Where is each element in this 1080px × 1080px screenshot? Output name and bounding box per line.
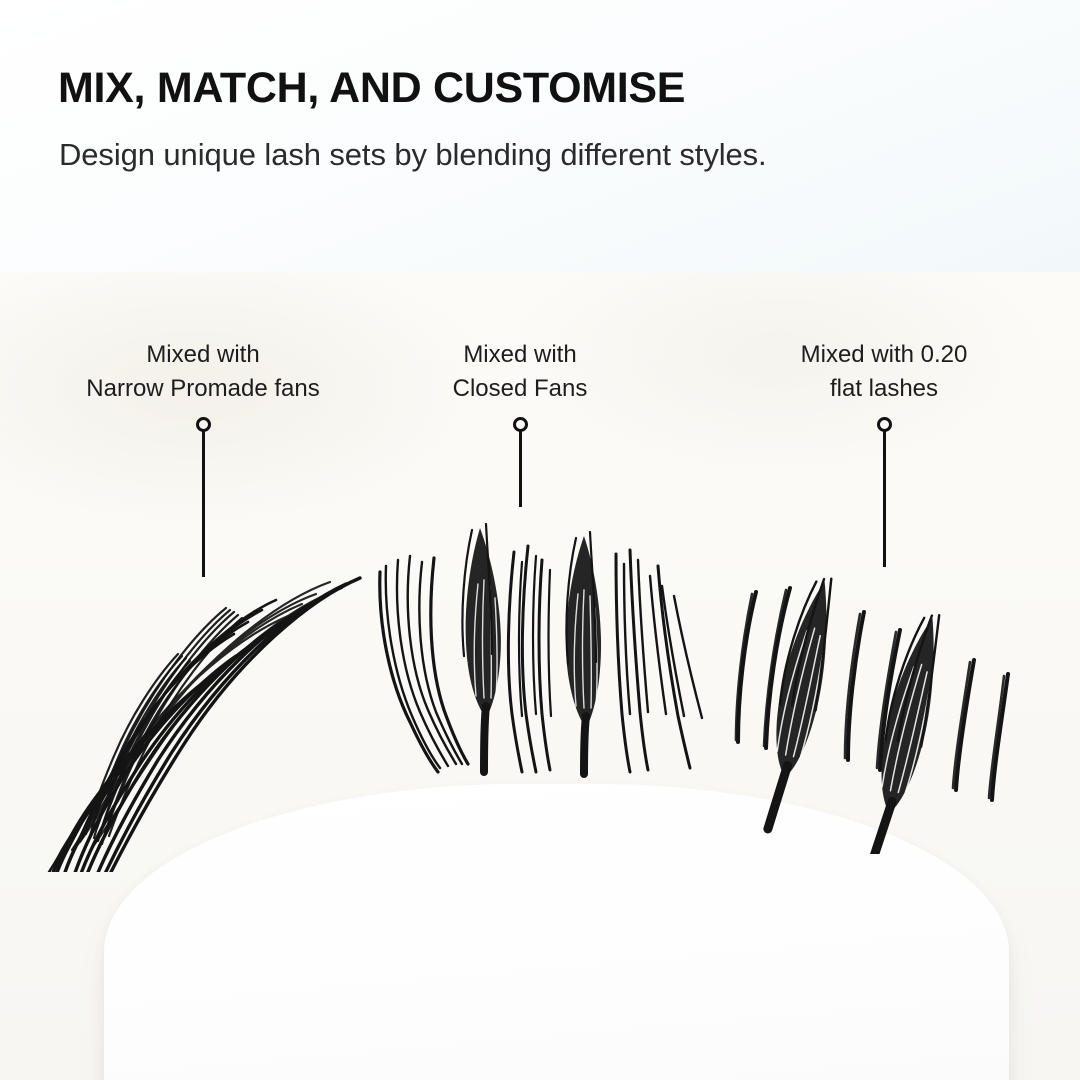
pin-head-circle-icon <box>513 417 528 432</box>
page-title: MIX, MATCH, AND CUSTOMISE <box>58 66 685 111</box>
infographic-page: MIX, MATCH, AND CUSTOMISE Design unique … <box>0 0 1080 1080</box>
pin-stem-line <box>519 431 522 507</box>
callout-label-closed-fans: Mixed with Closed Fans <box>380 338 660 406</box>
header-band: MIX, MATCH, AND CUSTOMISE Design unique … <box>0 0 1080 272</box>
callout-label-flat-lashes: Mixed with 0.20 flat lashes <box>744 338 1024 406</box>
pin-head-circle-icon <box>877 417 892 432</box>
pin-stem-line <box>202 431 205 577</box>
callout-label-narrow-promade-fans: Mixed with Narrow Promade fans <box>43 338 363 406</box>
pin-head-circle-icon <box>196 417 211 432</box>
lash-tile-surface <box>104 784 1009 1080</box>
lash-photo-stage: Mixed with Narrow Promade fans Mixed wit… <box>0 272 1080 1080</box>
lash-cluster-middle <box>372 510 708 810</box>
page-subtitle: Design unique lash sets by blending diff… <box>59 136 767 173</box>
pin-stem-line <box>883 431 886 567</box>
